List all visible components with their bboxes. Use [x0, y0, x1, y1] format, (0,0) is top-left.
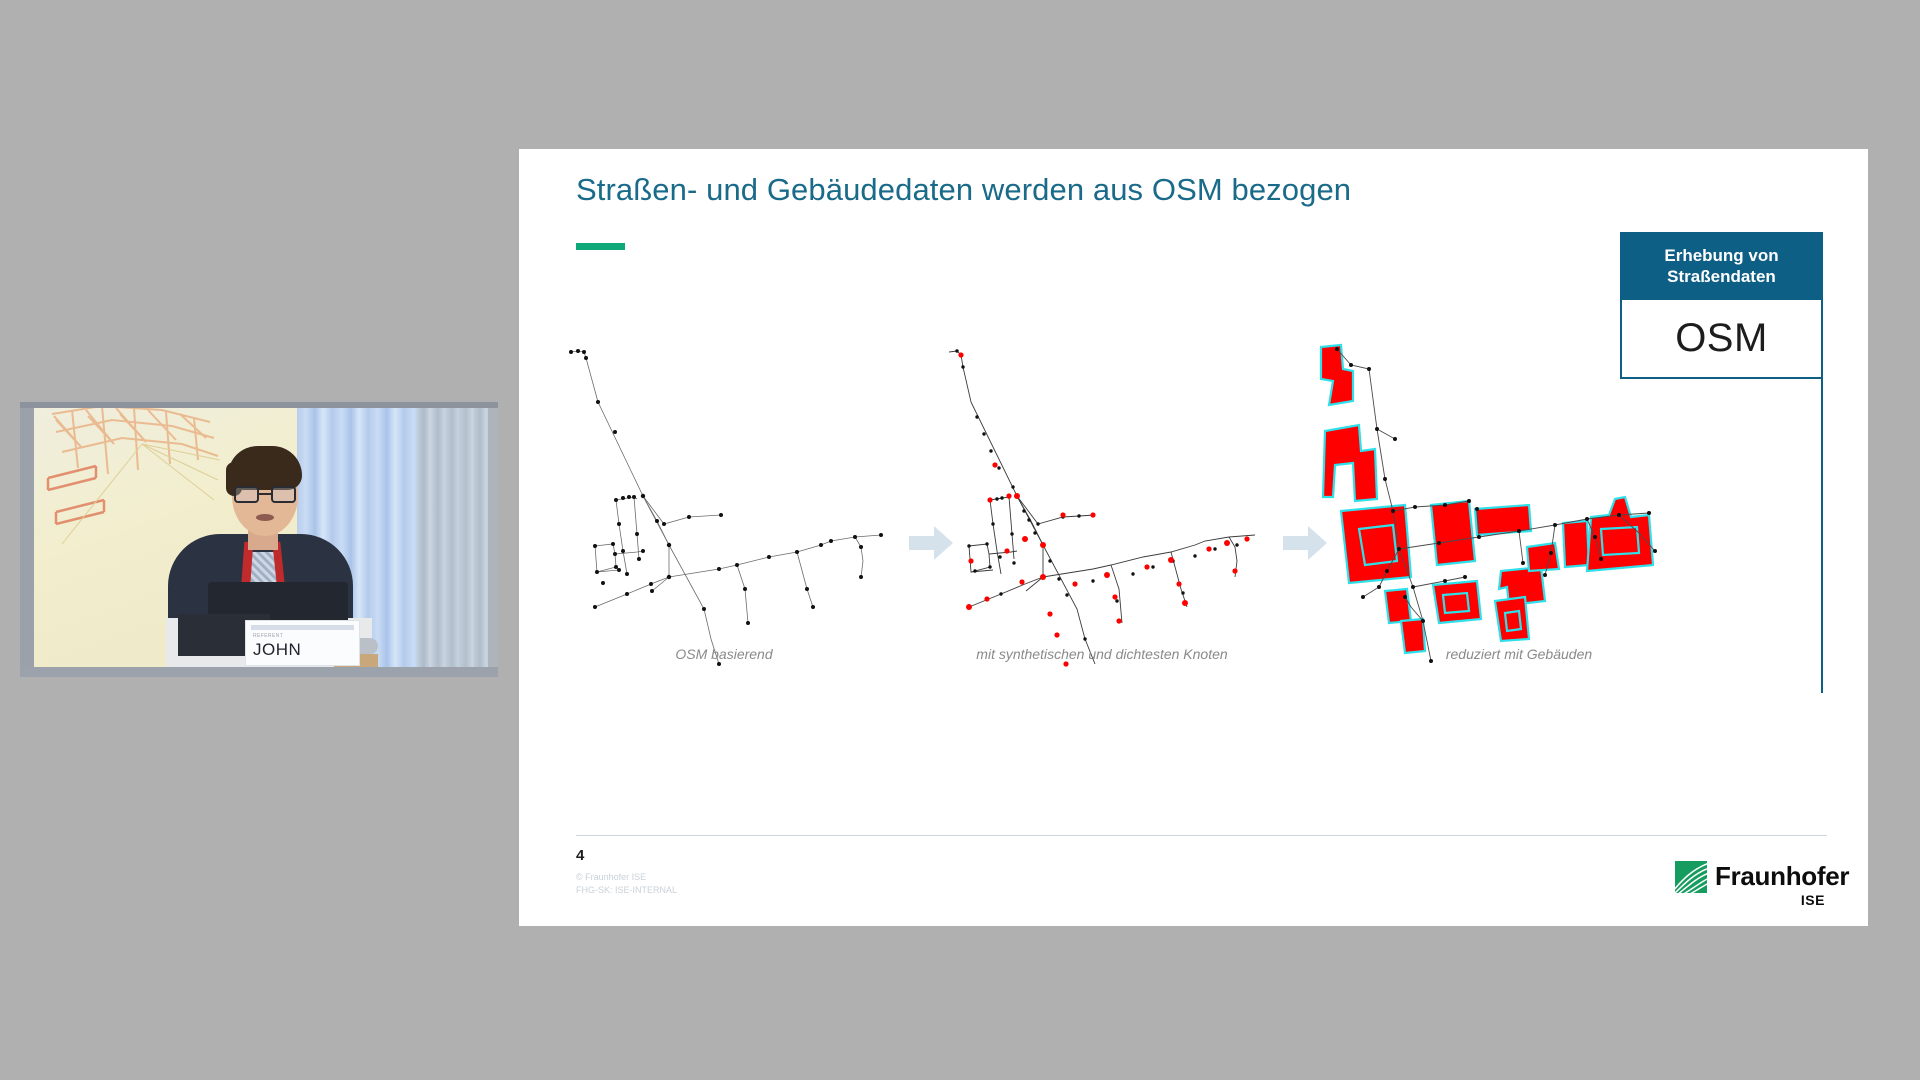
frame-bottom-bar	[20, 667, 498, 677]
wall-edge-left	[20, 402, 34, 677]
diagram-caption-3: reduziert mit Gebäuden	[1329, 646, 1709, 662]
network-diagram-osm	[559, 339, 889, 669]
network-graph-1	[559, 339, 889, 669]
name-card-label: REFERENT	[253, 633, 283, 639]
classification-line: FHG-SK: ISE-INTERNAL	[576, 884, 677, 897]
network-graph-3	[1319, 339, 1699, 669]
video-frame: REFERENT JOHN	[20, 402, 498, 677]
presentation-slide: Straßen- und Gebäudedaten werden aus OSM…	[519, 149, 1868, 926]
page-title: Straßen- und Gebäudedaten werden aus OSM…	[576, 172, 1351, 208]
name-card-bar	[251, 625, 354, 630]
fraunhofer-logo-mark-icon	[1675, 861, 1707, 893]
page-number: 4	[576, 847, 584, 864]
info-box-vertical-line	[1821, 379, 1823, 693]
speaker-mouth	[256, 514, 274, 521]
frame-top-bar	[20, 402, 498, 408]
footer-divider	[576, 835, 1827, 836]
name-card: REFERENT JOHN	[245, 620, 360, 666]
speaker-video[interactable]: REFERENT JOHN	[20, 402, 498, 677]
network-diagram-synthetic	[947, 339, 1277, 669]
info-box-header: Erhebung von Straßendaten	[1620, 232, 1823, 300]
screen: REFERENT JOHN Straßen- und Gebäudedaten …	[0, 0, 1920, 1080]
eyeglasses-icon	[234, 486, 296, 503]
network-graph-2	[947, 339, 1277, 669]
fraunhofer-logo-text: Fraunhofer	[1715, 861, 1849, 892]
copyright-line: © Fraunhofer ISE	[576, 871, 677, 884]
diagram-caption-1: OSM basierend	[559, 646, 889, 662]
network-diagram-buildings	[1319, 339, 1699, 669]
name-card-name: JOHN	[253, 640, 301, 660]
diagram-caption-2: mit synthetischen und dichtesten Knoten	[937, 646, 1267, 662]
wall-right-panel	[417, 402, 498, 677]
title-accent-rule	[576, 243, 625, 250]
fraunhofer-logo: Fraunhofer ISE	[1675, 859, 1827, 909]
fraunhofer-logo-institute: ISE	[1801, 892, 1825, 908]
wall-edge-right	[488, 402, 498, 677]
footer-copyright: © Fraunhofer ISE FHG-SK: ISE-INTERNAL	[576, 871, 677, 897]
